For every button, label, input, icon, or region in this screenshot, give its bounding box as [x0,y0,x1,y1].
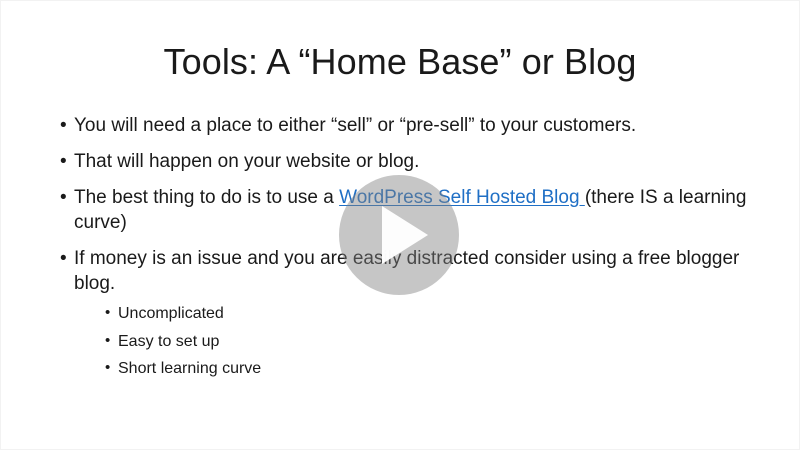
bullet-point-icon: • [105,331,110,351]
list-item-label: Uncomplicated [118,305,224,322]
bullet-point-icon: • [105,358,110,378]
list-item: • Easy to set up [104,331,749,352]
page-title: Tools: A “Home Base” or Blog [1,41,799,82]
play-triangle-icon [382,206,428,264]
list-item: • Short learning curve [104,358,749,379]
list-item: • Uncomplicated [104,303,749,324]
list-item-label: You will need a place to either “sell” o… [74,115,636,136]
slide-canvas: Tools: A “Home Base” or Blog • You will … [0,0,800,450]
list-item-label: Easy to set up [118,333,219,350]
list-item: • That will happen on your website or bl… [59,149,749,174]
bullet-point-icon: • [60,113,67,138]
list-item-label: Short learning curve [118,360,261,377]
text-run: You will need a place to either “sell” o… [74,115,636,136]
play-button[interactable] [339,175,459,295]
bullet-list-level2: • Uncomplicated • Easy to set up • Short… [74,303,749,379]
list-item: • You will need a place to either “sell”… [59,113,749,138]
bullet-point-icon: • [105,303,110,323]
text-run: The best thing to do is to use a [74,187,339,208]
text-run: That will happen on your website or blog… [74,151,419,172]
list-item-label: That will happen on your website or blog… [74,151,419,172]
bullet-point-icon: • [60,246,67,271]
bullet-point-icon: • [60,149,67,174]
bullet-point-icon: • [60,185,67,210]
